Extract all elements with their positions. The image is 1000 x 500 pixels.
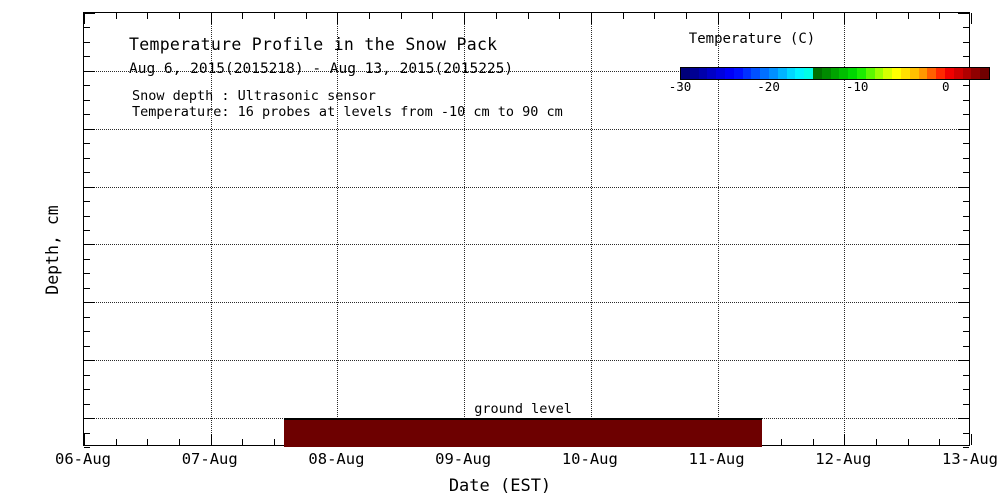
colorbar-band xyxy=(707,68,716,79)
colorbar-band xyxy=(980,68,989,79)
chart-subtitle: Aug 6, 2015(2015218) - Aug 13, 2015(2015… xyxy=(129,61,513,77)
x-tick-label: 08-Aug xyxy=(308,452,364,468)
colorbar-band xyxy=(813,68,822,79)
axis-tick xyxy=(963,288,969,289)
annotation-line: Snow depth : Ultrasonic sensor xyxy=(132,89,563,105)
axis-tick xyxy=(963,42,969,43)
x-tick-label: 07-Aug xyxy=(182,452,238,468)
colorbar-band xyxy=(743,68,752,79)
axis-tick xyxy=(591,13,592,24)
axis-tick xyxy=(958,302,969,303)
colorbar-band xyxy=(760,68,769,79)
axis-tick xyxy=(963,375,969,376)
axis-tick xyxy=(963,56,969,57)
axis-tick-minor xyxy=(179,13,180,19)
colorbar: Temperature (C) -30-20-100 xyxy=(592,31,912,89)
axis-tick xyxy=(84,331,90,332)
gridline-horizontal xyxy=(84,187,969,188)
axis-tick xyxy=(84,418,95,419)
x-axis-title: Date (EST) xyxy=(0,476,1000,496)
gridline-horizontal xyxy=(84,244,969,245)
ground-layer-block xyxy=(284,418,762,447)
x-tick-label: 06-Aug xyxy=(55,452,111,468)
colorbar-band xyxy=(892,68,901,79)
colorbar-band xyxy=(716,68,725,79)
axis-tick xyxy=(84,302,95,303)
axis-tick xyxy=(84,56,90,57)
colorbar-band xyxy=(857,68,866,79)
axis-tick-minor xyxy=(876,13,877,19)
axis-tick xyxy=(84,143,90,144)
axis-tick xyxy=(84,100,90,101)
axis-tick xyxy=(963,331,969,332)
axis-tick xyxy=(84,434,85,445)
axis-tick-minor xyxy=(908,439,909,445)
colorbar-band xyxy=(804,68,813,79)
axis-tick xyxy=(971,434,972,445)
colorbar-band xyxy=(831,68,840,79)
y-axis-title: Depth, cm xyxy=(43,205,62,294)
chart-title: Temperature Profile in the Snow Pack xyxy=(129,35,497,54)
axis-tick xyxy=(84,158,90,159)
axis-tick-minor xyxy=(147,13,148,19)
axis-tick xyxy=(84,114,90,115)
axis-tick xyxy=(963,100,969,101)
axis-tick xyxy=(84,360,95,361)
colorbar-band xyxy=(699,68,708,79)
colorbar-title: Temperature (C) xyxy=(592,31,912,47)
axis-tick-minor xyxy=(939,439,940,445)
axis-tick xyxy=(963,230,969,231)
axis-tick xyxy=(84,129,95,130)
axis-tick xyxy=(84,375,90,376)
colorbar-band xyxy=(901,68,910,79)
axis-tick xyxy=(958,360,969,361)
axis-tick xyxy=(84,317,90,318)
gridline-vertical xyxy=(337,13,338,445)
colorbar-band xyxy=(954,68,963,79)
axis-tick xyxy=(963,114,969,115)
axis-tick-minor xyxy=(686,13,687,19)
colorbar-band xyxy=(971,68,980,79)
axis-tick xyxy=(84,172,90,173)
colorbar-band xyxy=(945,68,954,79)
axis-tick xyxy=(963,201,969,202)
axis-tick xyxy=(958,129,969,130)
axis-tick xyxy=(963,433,969,434)
colorbar-tick-label: 0 xyxy=(942,81,950,94)
axis-tick xyxy=(963,216,969,217)
ground-level-label: ground level xyxy=(474,401,572,417)
axis-tick xyxy=(84,42,90,43)
axis-tick xyxy=(963,404,969,405)
colorbar-band xyxy=(769,68,778,79)
axis-tick-minor xyxy=(179,439,180,445)
axis-tick xyxy=(84,13,85,24)
gridline-vertical xyxy=(211,13,212,445)
plot-area[interactable]: Temperature Profile in the Snow Pack Aug… xyxy=(83,12,970,446)
axis-tick xyxy=(963,143,969,144)
axis-tick-minor xyxy=(306,13,307,19)
axis-tick-minor xyxy=(116,13,117,19)
axis-tick-minor xyxy=(274,439,275,445)
axis-tick-minor xyxy=(749,13,750,19)
axis-tick-minor xyxy=(432,13,433,19)
x-tick-label: 12-Aug xyxy=(815,452,871,468)
axis-tick xyxy=(211,13,212,24)
axis-tick-minor xyxy=(496,13,497,19)
axis-tick xyxy=(84,201,90,202)
axis-tick-minor xyxy=(147,439,148,445)
axis-tick xyxy=(84,404,90,405)
axis-tick-minor xyxy=(623,13,624,19)
axis-tick xyxy=(84,230,90,231)
axis-tick xyxy=(84,27,90,28)
colorbar-band xyxy=(681,68,690,79)
axis-tick xyxy=(963,317,969,318)
colorbar-tick-label: -30 xyxy=(669,81,692,94)
colorbar-band xyxy=(778,68,787,79)
axis-tick xyxy=(963,259,969,260)
axis-tick xyxy=(337,13,338,24)
axis-tick xyxy=(84,346,90,347)
axis-tick xyxy=(963,389,969,390)
axis-tick xyxy=(844,13,845,24)
axis-tick xyxy=(84,273,90,274)
axis-tick-minor xyxy=(559,13,560,19)
colorbar-band xyxy=(822,68,831,79)
axis-tick xyxy=(84,13,95,14)
annotation-block: Snow depth : Ultrasonic sensorTemperatur… xyxy=(132,89,563,120)
axis-tick xyxy=(963,27,969,28)
axis-tick-minor xyxy=(369,13,370,19)
axis-tick-minor xyxy=(781,439,782,445)
axis-tick xyxy=(844,434,845,445)
axis-tick xyxy=(718,13,719,24)
axis-tick xyxy=(84,259,90,260)
x-tick-label: 09-Aug xyxy=(435,452,491,468)
axis-tick-minor xyxy=(116,439,117,445)
axis-tick xyxy=(958,418,969,419)
colorbar-band xyxy=(734,68,743,79)
axis-tick-minor xyxy=(401,13,402,19)
gridline-horizontal xyxy=(84,129,969,130)
axis-tick xyxy=(84,447,90,448)
axis-tick xyxy=(211,434,212,445)
axis-tick xyxy=(84,288,90,289)
x-tick-label: 11-Aug xyxy=(689,452,745,468)
colorbar-band xyxy=(883,68,892,79)
colorbar-band xyxy=(839,68,848,79)
x-tick-label: 13-Aug xyxy=(942,452,998,468)
gridline-horizontal xyxy=(84,302,969,303)
axis-tick xyxy=(464,13,465,24)
axis-tick-minor xyxy=(528,13,529,19)
colorbar-band xyxy=(919,68,928,79)
axis-tick-minor xyxy=(242,439,243,445)
colorbar-band xyxy=(751,68,760,79)
axis-tick-minor xyxy=(908,13,909,19)
colorbar-tick-label: -10 xyxy=(846,81,869,94)
axis-tick xyxy=(84,216,90,217)
axis-tick-minor xyxy=(242,13,243,19)
axis-tick xyxy=(963,158,969,159)
axis-tick xyxy=(84,71,95,72)
gridline-vertical xyxy=(464,13,465,445)
axis-tick-minor xyxy=(654,13,655,19)
colorbar-band xyxy=(787,68,796,79)
colorbar-tick-label: -20 xyxy=(757,81,780,94)
colorbar-band xyxy=(866,68,875,79)
colorbar-band xyxy=(875,68,884,79)
axis-tick xyxy=(84,389,90,390)
colorbar-band xyxy=(690,68,699,79)
axis-tick-minor xyxy=(813,13,814,19)
axis-tick xyxy=(971,13,972,24)
colorbar-band xyxy=(963,68,972,79)
axis-tick xyxy=(84,187,95,188)
axis-tick xyxy=(963,172,969,173)
axis-tick xyxy=(958,187,969,188)
axis-tick xyxy=(963,273,969,274)
axis-tick-minor xyxy=(781,13,782,19)
axis-tick xyxy=(963,85,969,86)
colorbar-band xyxy=(936,68,945,79)
colorbar-band xyxy=(927,68,936,79)
colorbar-band xyxy=(725,68,734,79)
x-tick-label: 10-Aug xyxy=(562,452,618,468)
colorbar-band xyxy=(795,68,804,79)
annotation-line: Temperature: 16 probes at levels from -1… xyxy=(132,105,563,121)
axis-tick xyxy=(84,244,95,245)
axis-tick xyxy=(963,346,969,347)
colorbar-band xyxy=(848,68,857,79)
axis-tick xyxy=(958,244,969,245)
axis-tick xyxy=(958,13,969,14)
colorbar-band xyxy=(910,68,919,79)
axis-tick-minor xyxy=(813,439,814,445)
axis-tick-minor xyxy=(274,13,275,19)
axis-tick xyxy=(963,447,969,448)
axis-tick xyxy=(84,85,90,86)
gridline-horizontal xyxy=(84,360,969,361)
axis-tick-minor xyxy=(876,439,877,445)
axis-tick-minor xyxy=(939,13,940,19)
